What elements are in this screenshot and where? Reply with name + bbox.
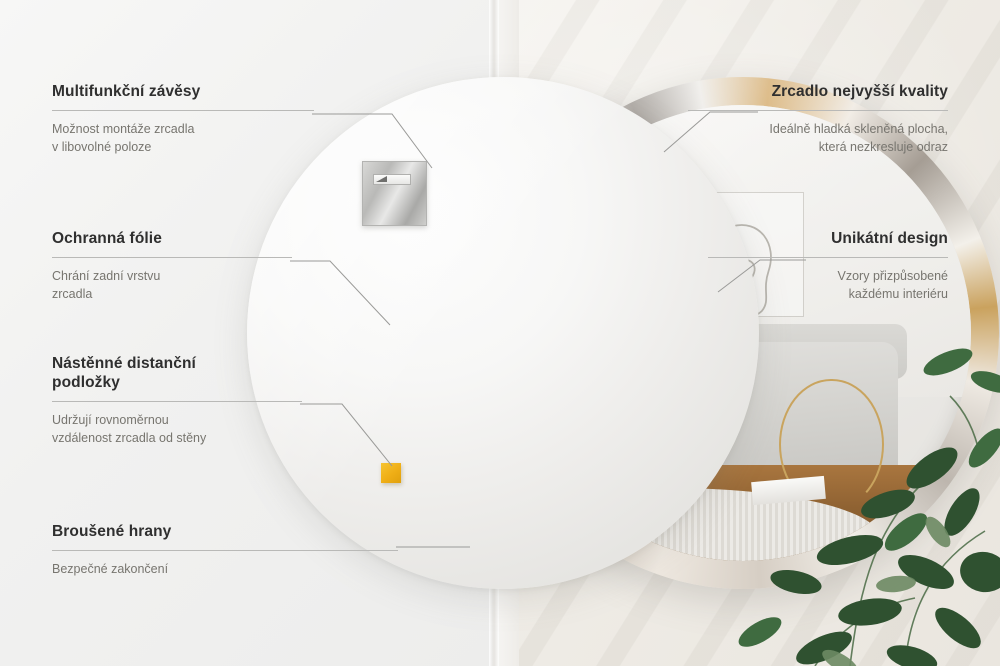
- callout-title: Ochranná fólie: [52, 229, 292, 248]
- callout-line-2: zrcadla: [52, 286, 292, 304]
- callout-title: Multifunkční závěsy: [52, 82, 314, 101]
- callout-title: Unikátní design: [708, 229, 948, 248]
- callout-title: Broušené hrany: [52, 522, 398, 541]
- bracket-keyhole-slot: [373, 174, 411, 185]
- callout-nastenne-distancni-podlozky: Nástěnné distanční podložky Udržují rovn…: [52, 354, 302, 447]
- callout-ochranna-folie: Ochranná fólie Chrání zadní vrstvu zrcad…: [52, 229, 292, 303]
- callout-line-2: vzdálenost zrcadla od stěny: [52, 430, 302, 448]
- callout-line-1: Udržují rovnoměrnou: [52, 412, 302, 430]
- callout-rule: [688, 110, 948, 111]
- hanging-bracket: [362, 161, 427, 226]
- callout-line-2: v libovolné poloze: [52, 139, 314, 157]
- wall-spacer-pad: [381, 463, 401, 483]
- mirror-back-sheen: [247, 77, 759, 589]
- callout-title: Nástěnné distanční podložky: [52, 354, 252, 392]
- mirror-back-panel: [247, 77, 759, 589]
- infographic-canvas: Multifunkční závěsy Možnost montáže zrca…: [0, 0, 1000, 666]
- callout-rule: [52, 110, 314, 111]
- callout-line-1: Možnost montáže zrcadla: [52, 121, 314, 139]
- callout-line-2: která nezkresluje odraz: [688, 139, 948, 157]
- callout-title: Zrcadlo nejvyšší kvality: [688, 82, 948, 101]
- callout-unikatni-design: Unikátní design Vzory přizpůsobené každé…: [708, 229, 948, 303]
- callout-brousene-hrany: Broušené hrany Bezpečné zakončení: [52, 522, 398, 579]
- callout-zrcadlo-nejvyssi-kvality: Zrcadlo nejvyšší kvality Ideálně hladká …: [688, 82, 948, 156]
- callout-line-1: Ideálně hladká skleněná plocha,: [688, 121, 948, 139]
- callout-multifunkcni-zavesy: Multifunkční závěsy Možnost montáže zrca…: [52, 82, 314, 156]
- callout-rule: [52, 257, 292, 258]
- callout-rule: [52, 550, 398, 551]
- callout-line-1: Vzory přizpůsobené: [708, 268, 948, 286]
- callout-rule: [708, 257, 948, 258]
- callout-line-2: každému interiéru: [708, 286, 948, 304]
- callout-line-1: Bezpečné zakončení: [52, 561, 398, 579]
- callout-line-1: Chrání zadní vrstvu: [52, 268, 292, 286]
- callout-rule: [52, 401, 302, 402]
